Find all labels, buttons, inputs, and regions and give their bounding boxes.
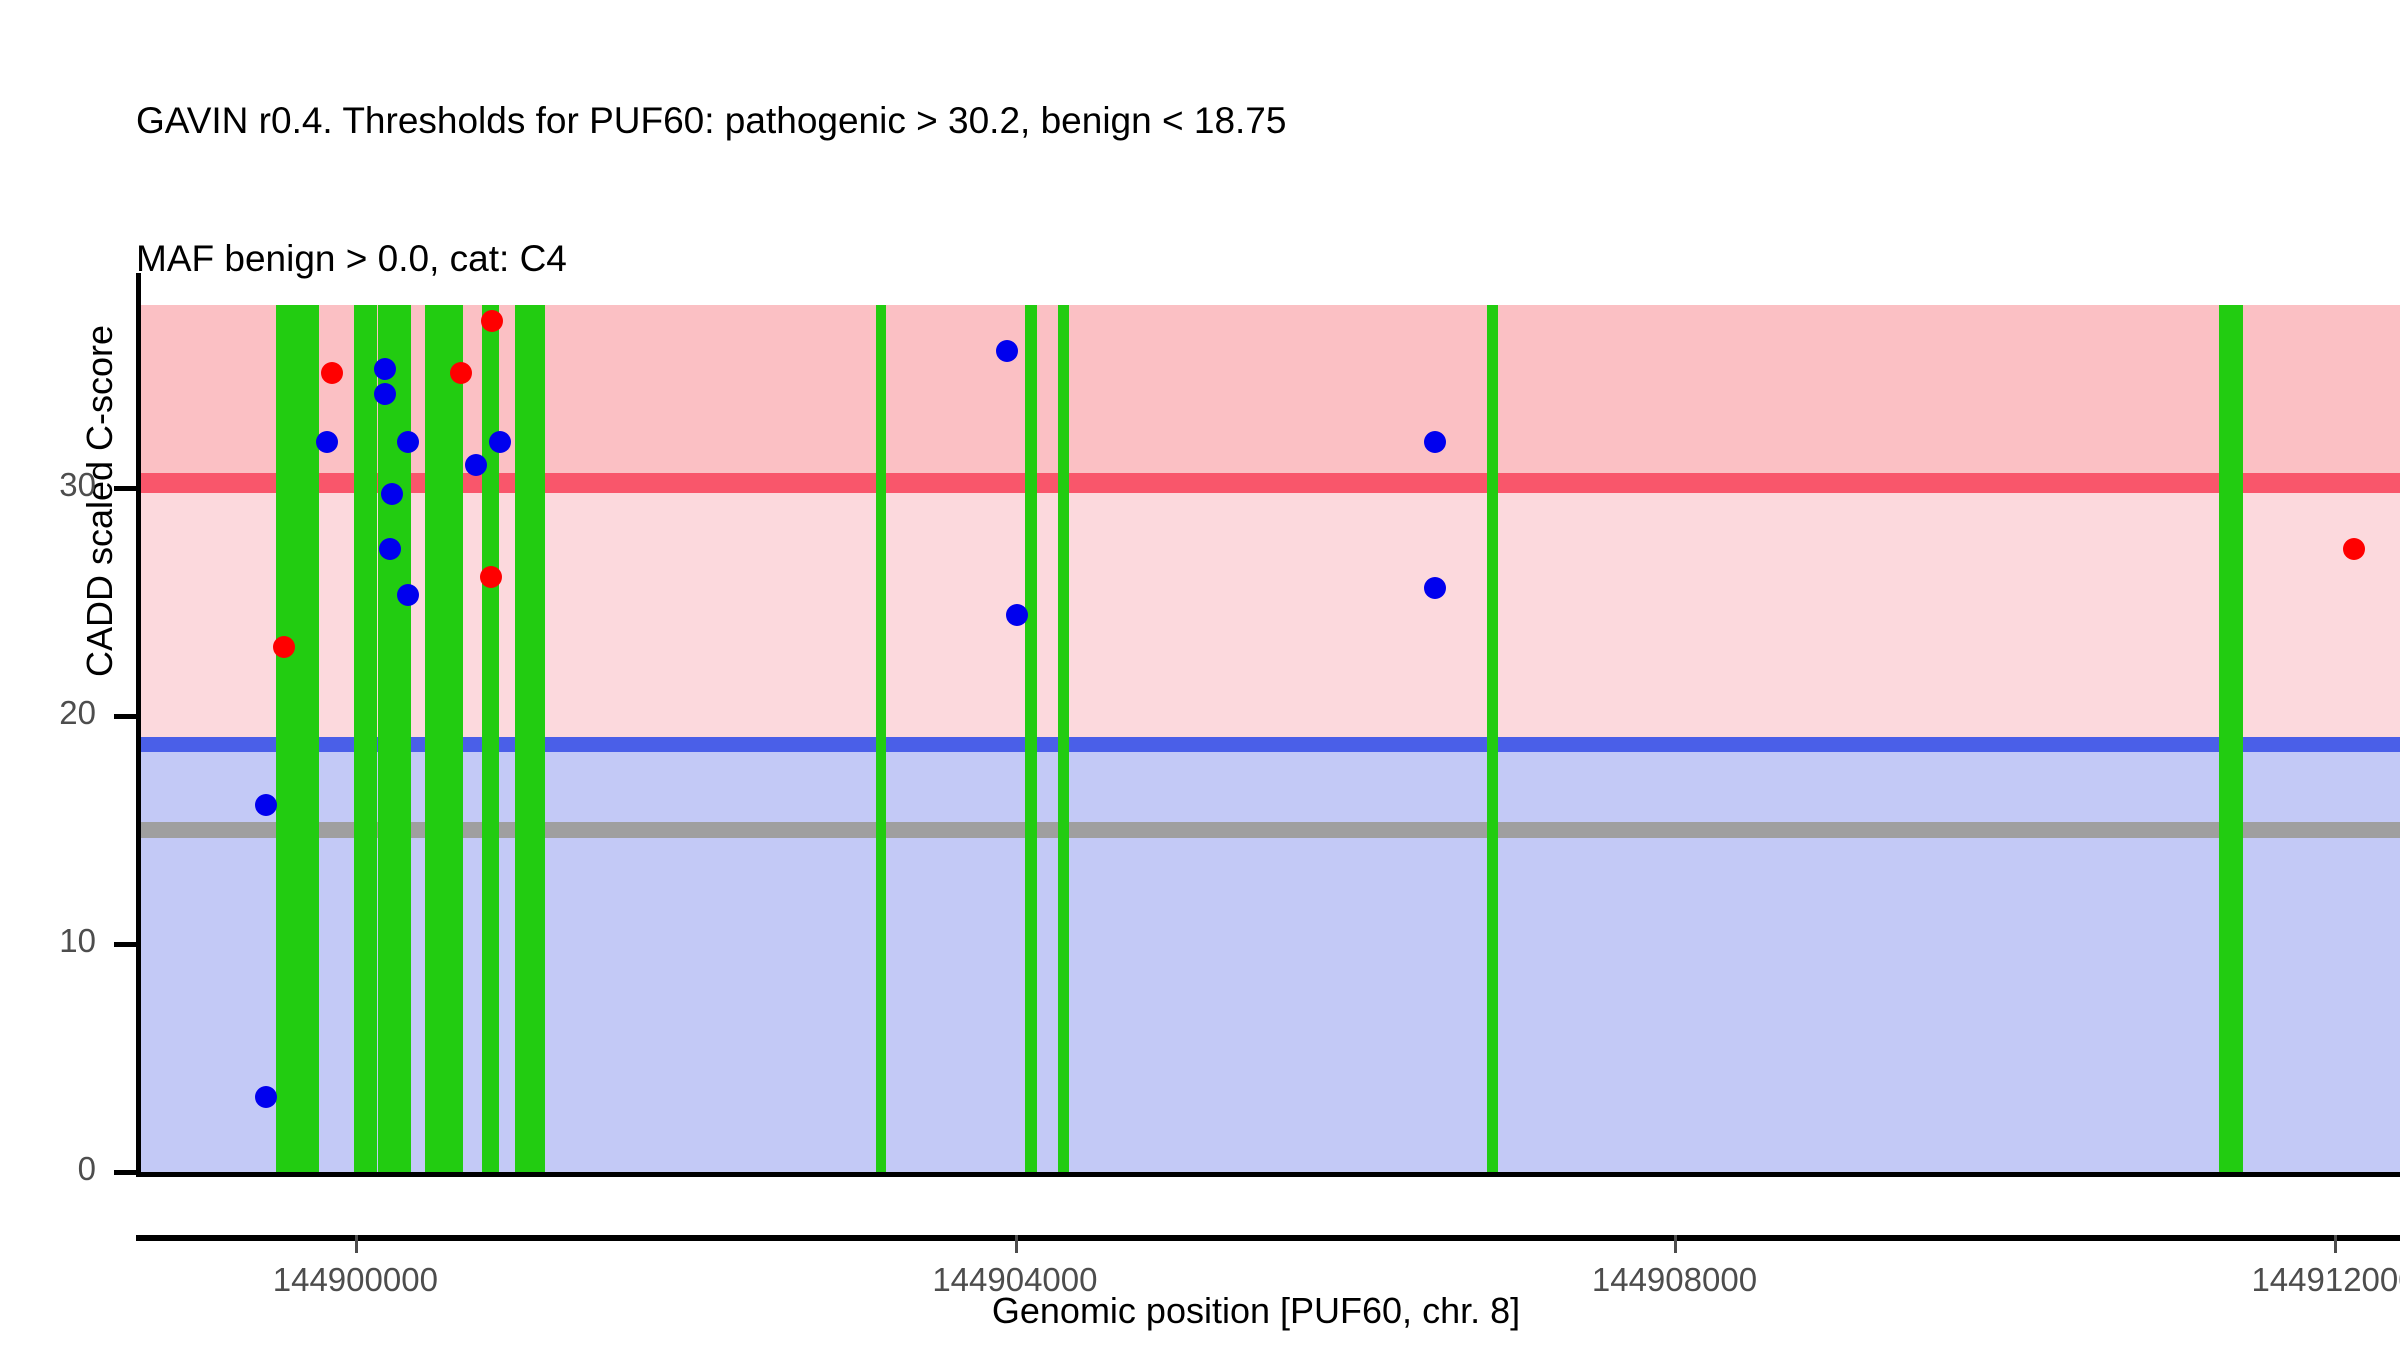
x-axis-tick-label: 144904000 [815,1261,1215,1299]
pathogenic-variant-point [481,310,503,332]
gnomad-variant-point [397,431,419,453]
exon-bar [1025,305,1037,1172]
x-axis-line [136,1235,2400,1241]
y-axis-tick-label: 10 [0,922,96,960]
y-axis-tick-label: 0 [0,1150,96,1188]
exon-bar [2219,305,2244,1172]
exon-bar [1058,305,1070,1172]
y-axis-tick [114,1170,136,1175]
y-axis-tick [114,714,136,719]
gnomad-variant-point [996,340,1018,362]
gnomad-variant-point [374,358,396,380]
exon-bar [425,305,463,1172]
x-axis-tick-label: 144912000 [2134,1261,2400,1299]
gnomad-variant-point [255,794,277,816]
genome-wide-threshold-line [141,822,2400,838]
y-axis-tick [114,486,136,491]
y-axis-tick-label: 20 [0,694,96,732]
exon-bar [276,305,319,1172]
gnomad-variant-point [397,584,419,606]
exon-bar [876,305,886,1172]
x-axis-tick [355,1235,358,1253]
gnomad-variant-point [381,483,403,505]
gnomad-variant-point [255,1086,277,1108]
gnomad-variant-point [379,538,401,560]
pathogenic-variant-point [2343,538,2365,560]
plot-area [141,305,2400,1172]
x-axis-tick-label: 144908000 [1474,1261,1874,1299]
benign-threshold-line [141,737,2400,752]
x-axis-tick [1674,1235,1677,1253]
zone-uncertain [141,493,2400,737]
pathogenic-variant-point [480,566,502,588]
gnomad-variant-point [465,454,487,476]
title-line-1: GAVIN r0.4. Thresholds for PUF60: pathog… [136,98,2376,144]
zone-pathogenic-upper [141,305,2400,473]
zone-benign [141,752,2400,1172]
exon-bar [354,305,377,1172]
exon-bar [1487,305,1499,1172]
y-axis-tick [114,942,136,947]
gnomad-variant-point [374,383,396,405]
gnomad-variant-point [1006,604,1028,626]
exon-bar [515,305,545,1172]
pathogenic-threshold-line [141,473,2400,492]
chart-canvas: GAVIN r0.4. Thresholds for PUF60: pathog… [0,0,2400,1350]
x-axis-tick [2334,1235,2337,1253]
plot-panel: 0102030 14490000014490400014490800014491… [136,273,2400,1213]
x-axis-zero-line [136,1172,2400,1177]
x-axis-tick-label: 144900000 [155,1261,555,1299]
x-axis-tick [1015,1235,1018,1253]
y-axis-tick-label: 30 [0,466,96,504]
